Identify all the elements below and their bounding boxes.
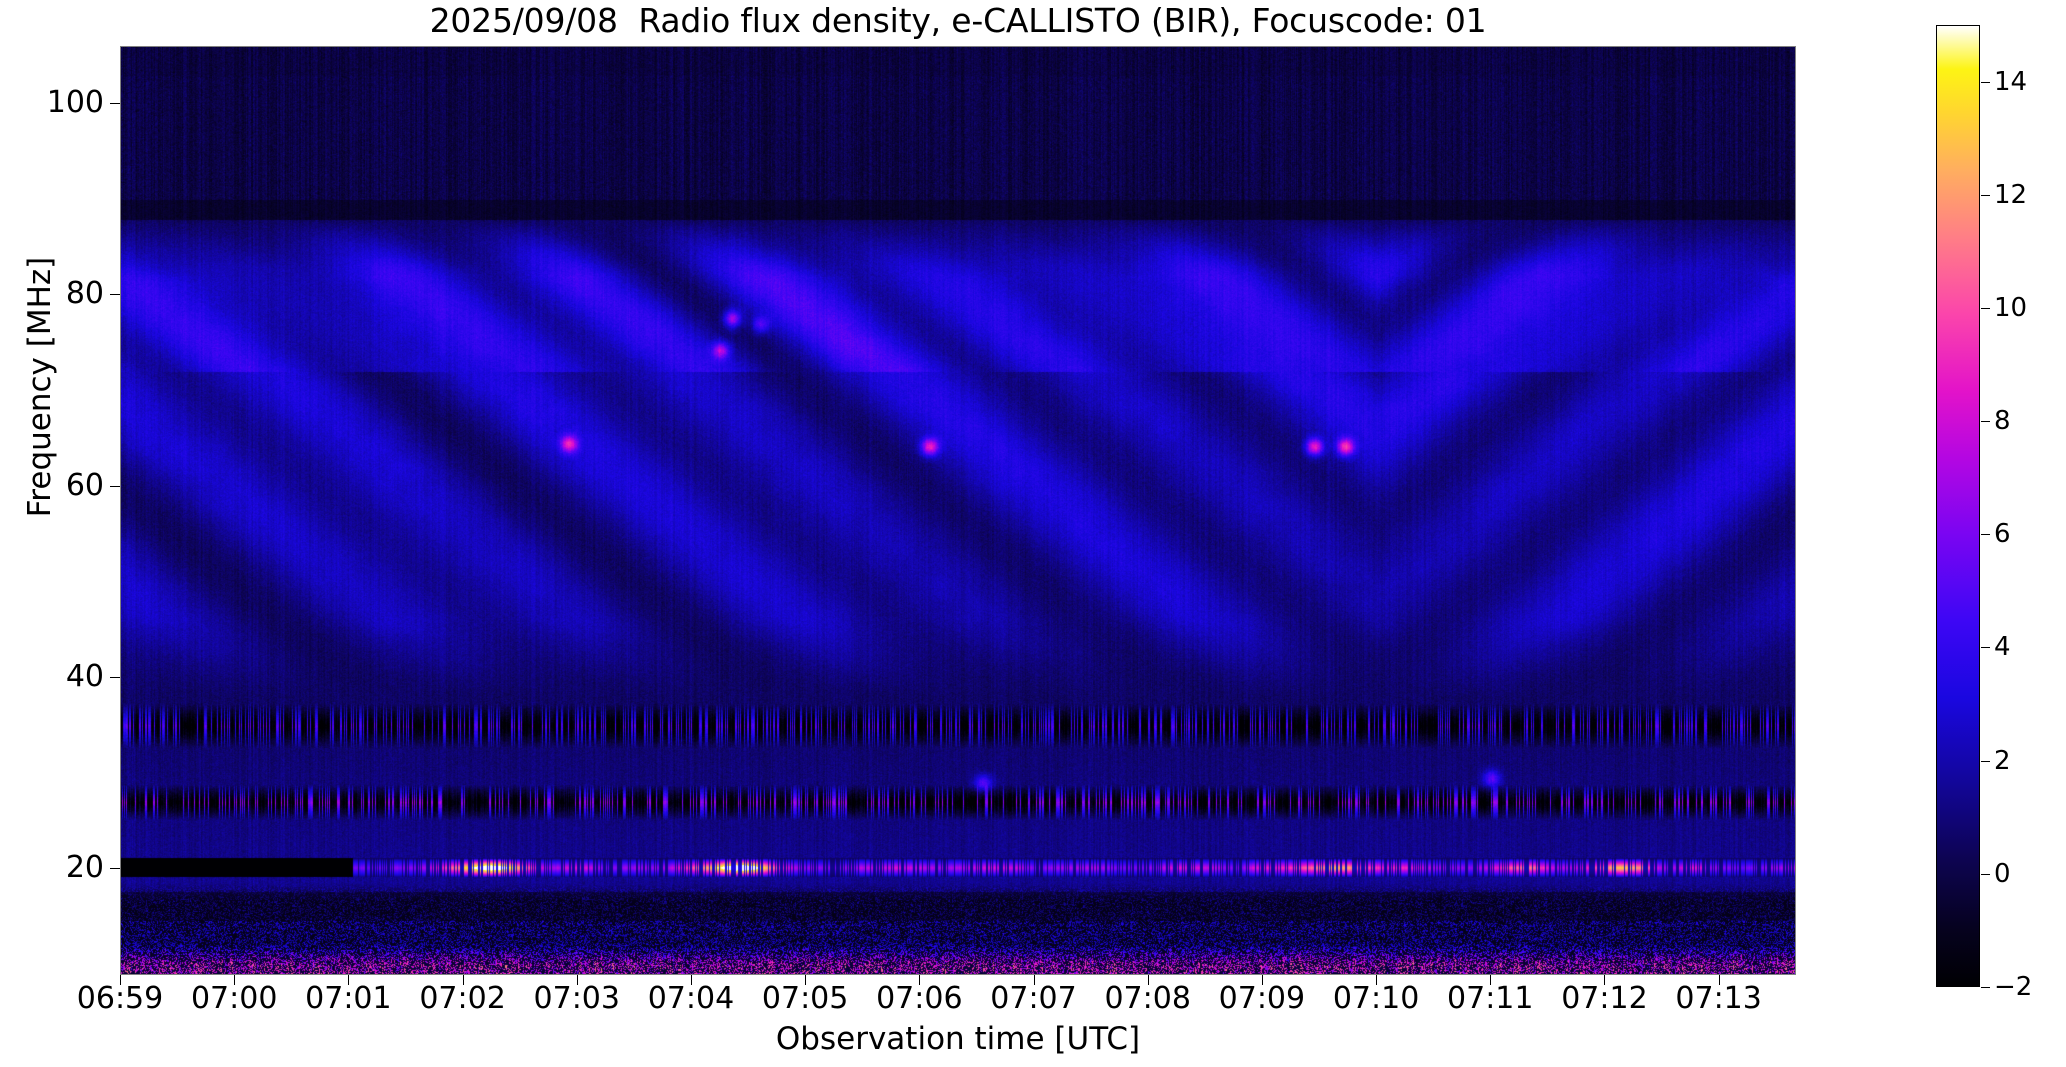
colorbar-tick-label: 8: [1994, 408, 2011, 434]
page-title: 2025/09/08 Radio flux density, e-CALLIST…: [0, 2, 1916, 40]
colorbar: [1936, 25, 1980, 987]
y-tick-mark: [110, 868, 120, 869]
colorbar-tick-mark: [1981, 82, 1990, 83]
x-tick-label: 07:08: [1104, 983, 1190, 1015]
y-tick-mark: [110, 294, 120, 295]
colorbar-tick-label: 2: [1994, 748, 2011, 774]
x-tick-label: 07:12: [1561, 983, 1647, 1015]
y-tick-mark: [110, 677, 120, 678]
y-tick-label: 40: [66, 662, 104, 692]
colorbar-tick-mark: [1981, 421, 1990, 422]
colorbar-tick-label: 14: [1994, 69, 2027, 95]
x-tick-label: 06:59: [77, 983, 163, 1015]
x-tick-label: 07:10: [1333, 983, 1419, 1015]
x-tick-label: 07:13: [1675, 983, 1761, 1015]
x-tick-label: 07:04: [648, 983, 734, 1015]
x-tick-label: 07:07: [990, 983, 1076, 1015]
x-tick-label: 07:02: [419, 983, 505, 1015]
colorbar-tick-label: 12: [1994, 182, 2027, 208]
colorbar-tick-label: 6: [1994, 521, 2011, 547]
x-tick-label: 07:05: [762, 983, 848, 1015]
colorbar-tick-label: 10: [1994, 295, 2027, 321]
colorbar-tick-mark: [1981, 534, 1990, 535]
x-axis-label: Observation time [UTC]: [120, 1022, 1796, 1056]
colorbar-tick-mark: [1981, 761, 1990, 762]
colorbar-tick-mark: [1981, 195, 1990, 196]
x-tick-label: 07:00: [191, 983, 277, 1015]
x-tick-label: 07:03: [534, 983, 620, 1015]
colorbar-gradient: [1937, 26, 1979, 986]
colorbar-tick-mark: [1981, 987, 1990, 988]
spectrogram-figure: 2025/09/08 Radio flux density, e-CALLIST…: [0, 0, 2066, 1067]
colorbar-tick-mark: [1981, 308, 1990, 309]
colorbar-tick-label: −2: [1994, 974, 2032, 1000]
spectrogram-axes: [120, 46, 1796, 975]
colorbar-tick-label: 4: [1994, 634, 2011, 660]
colorbar-tick-mark: [1981, 874, 1990, 875]
y-tick-mark: [110, 486, 120, 487]
y-tick-label: 80: [66, 279, 104, 309]
x-tick-label: 07:11: [1447, 983, 1533, 1015]
y-tick-label: 100: [47, 88, 104, 118]
spectrogram-image: [121, 47, 1795, 974]
x-tick-label: 07:01: [305, 983, 391, 1015]
colorbar-tick-label: 0: [1994, 861, 2011, 887]
x-tick-label: 07:06: [876, 983, 962, 1015]
colorbar-tick-mark: [1981, 647, 1990, 648]
x-tick-label: 07:09: [1219, 983, 1305, 1015]
y-tick-label: 60: [66, 471, 104, 501]
y-tick-label: 20: [66, 853, 104, 883]
y-tick-mark: [110, 103, 120, 104]
y-axis-label: Frequency [MHz]: [23, 187, 57, 587]
